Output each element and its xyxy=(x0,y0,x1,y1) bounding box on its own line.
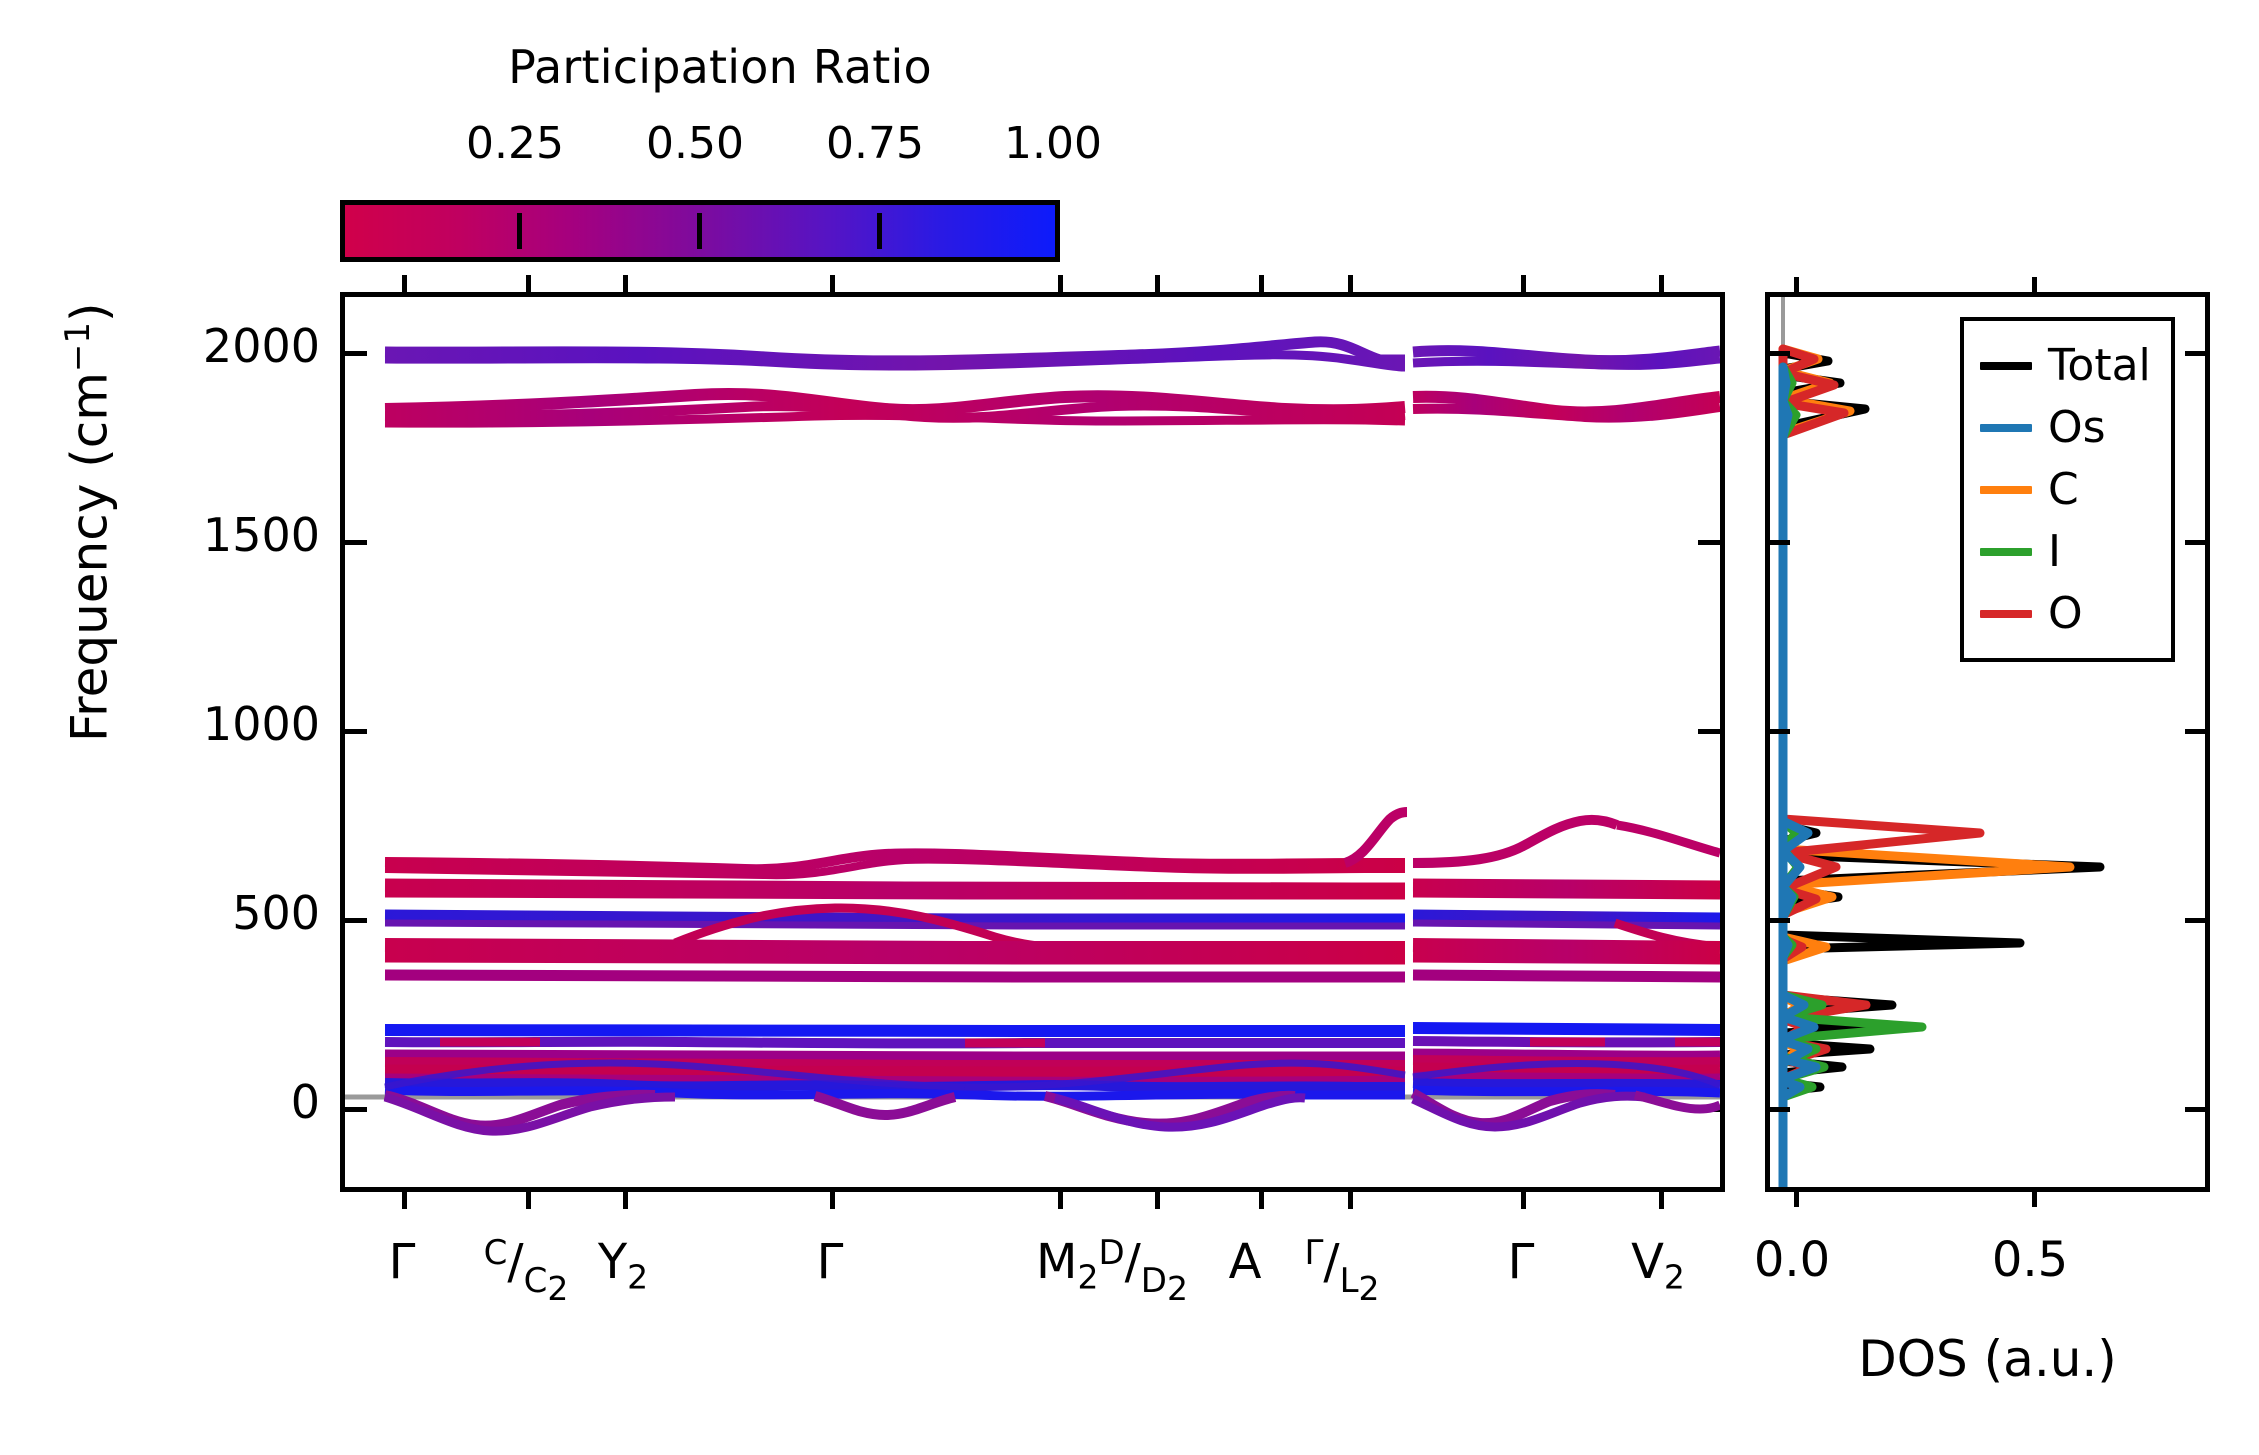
dos-y-tick xyxy=(1770,729,1790,734)
x-axis-tick xyxy=(1659,1187,1664,1209)
x-axis-tick xyxy=(830,1187,835,1209)
dos-x-axis-tick-labels: 0.0 0.5 xyxy=(1765,1232,2210,1302)
x-axis-tick xyxy=(1348,1187,1353,1209)
dos-y-tick xyxy=(1770,351,1790,356)
y-tick-label: 1500 xyxy=(203,508,320,562)
legend-swatch-os xyxy=(1980,424,2032,432)
x-tick-label-gamma-2: Γ xyxy=(817,1238,844,1286)
legend-label-c: C xyxy=(2048,468,2079,512)
x-axis-tick-top xyxy=(1259,275,1264,297)
legend-label-i: I xyxy=(2048,530,2061,574)
dos-x-tick-top xyxy=(2032,277,2037,297)
x-tick-label-c-c2: C/C2 xyxy=(484,1238,569,1291)
legend-swatch-o xyxy=(1980,610,2032,618)
x-axis-tick-top xyxy=(1155,275,1160,297)
x-axis-tick-top xyxy=(830,275,835,297)
dos-x-tick xyxy=(1794,1187,1799,1207)
phonon-dos-plot[interactable]: Total Os C I O xyxy=(1765,292,2210,1192)
x-axis-tick xyxy=(1521,1187,1526,1209)
dos-legend[interactable]: Total Os C I O xyxy=(1960,317,2175,662)
phonon-band-structure-plot[interactable] xyxy=(340,292,1725,1192)
dos-y-tick xyxy=(1770,540,1790,545)
y-tick-label: 500 xyxy=(232,886,320,940)
y-axis-title-text: Frequency (cm xyxy=(61,372,119,742)
colorbar-tick xyxy=(697,213,702,249)
x-tick-label-y2: Y2 xyxy=(598,1238,648,1294)
band-curves xyxy=(345,297,1720,1187)
legend-item-os[interactable]: Os xyxy=(1964,397,2171,459)
x-tick-label-v2: V2 xyxy=(1631,1238,1685,1294)
colorbar-tick xyxy=(517,213,522,249)
colorbar-tick-labels: 0.25 0.50 0.75 1.00 xyxy=(340,118,1100,168)
legend-swatch-c xyxy=(1980,486,2032,494)
x-axis-tick-top xyxy=(623,275,628,297)
x-axis-tick-top xyxy=(1659,275,1664,297)
colorbar-tick-label: 0.75 xyxy=(826,118,924,169)
colorbar-tick-label: 0.25 xyxy=(466,118,564,169)
y-axis-title-superscript: −1 xyxy=(58,322,98,372)
colorbar-tick-label: 1.00 xyxy=(1004,118,1102,169)
dos-y-tick xyxy=(2185,729,2205,734)
x-tick-label-a: A xyxy=(1229,1238,1262,1286)
x-axis-tick-top xyxy=(1521,275,1526,297)
x-axis-tick xyxy=(526,1187,531,1209)
y-tick-label: 1000 xyxy=(203,697,320,751)
dos-y-tick xyxy=(2185,918,2205,923)
x-axis-tick xyxy=(1058,1187,1063,1209)
colorbar-tick xyxy=(877,213,882,249)
dos-y-tick xyxy=(1770,918,1790,923)
dos-axis-title: DOS (a.u.) xyxy=(1765,1330,2210,1388)
dos-x-tick-label: 0.0 xyxy=(1754,1232,1830,1288)
legend-item-c[interactable]: C xyxy=(1964,459,2171,521)
legend-label-o: O xyxy=(2048,592,2083,636)
x-axis-tick-top xyxy=(1348,275,1353,297)
band-plot-area xyxy=(345,297,1720,1187)
x-axis-tick xyxy=(1259,1187,1264,1209)
x-axis-tick-top xyxy=(526,275,531,297)
dos-x-tick-label: 0.5 xyxy=(1992,1232,2068,1288)
x-axis-tick-top xyxy=(1058,275,1063,297)
dos-x-tick xyxy=(2032,1187,2037,1207)
legend-swatch-i xyxy=(1980,548,2032,556)
x-tick-label-gamma-3: Γ xyxy=(1508,1238,1535,1286)
dos-y-tick xyxy=(2185,540,2205,545)
dos-y-tick xyxy=(2185,1107,2205,1112)
x-tick-label-m2d-d2: M2D/D2 xyxy=(1036,1238,1188,1294)
x-tick-label-gamma-l2: Γ/L2 xyxy=(1304,1238,1379,1291)
x-tick-label-gamma-1: Γ xyxy=(389,1238,416,1286)
dos-x-tick-top xyxy=(1794,277,1799,297)
legend-item-i[interactable]: I xyxy=(1964,521,2171,583)
colorbar-tick-label: 0.50 xyxy=(646,118,744,169)
legend-item-o[interactable]: O xyxy=(1964,583,2171,645)
x-axis-tick xyxy=(1155,1187,1160,1209)
y-axis-tick-labels: 0 500 1000 1500 2000 xyxy=(140,292,320,1192)
y-axis-title-paren: ) xyxy=(61,302,119,322)
x-axis-tick xyxy=(402,1187,407,1209)
y-tick-label: 2000 xyxy=(203,319,320,373)
dos-y-tick xyxy=(2185,351,2205,356)
legend-label-total: Total xyxy=(2048,344,2151,388)
y-tick-label: 0 xyxy=(291,1075,320,1129)
x-axis-tick-labels: Γ C/C2 Y2 Γ M2D/D2 A Γ/L2 Γ V2 xyxy=(340,1232,1725,1352)
legend-swatch-total xyxy=(1980,362,2032,370)
colorbar-title: Participation Ratio xyxy=(340,40,1100,94)
y-axis-title: Frequency (cm−1) xyxy=(58,302,119,742)
dos-y-tick xyxy=(1770,1107,1790,1112)
x-axis-tick xyxy=(623,1187,628,1209)
legend-item-total[interactable]: Total xyxy=(1964,335,2171,397)
legend-label-os: Os xyxy=(2048,406,2106,450)
participation-ratio-colorbar[interactable] xyxy=(340,200,1060,262)
x-axis-tick-top xyxy=(402,275,407,297)
